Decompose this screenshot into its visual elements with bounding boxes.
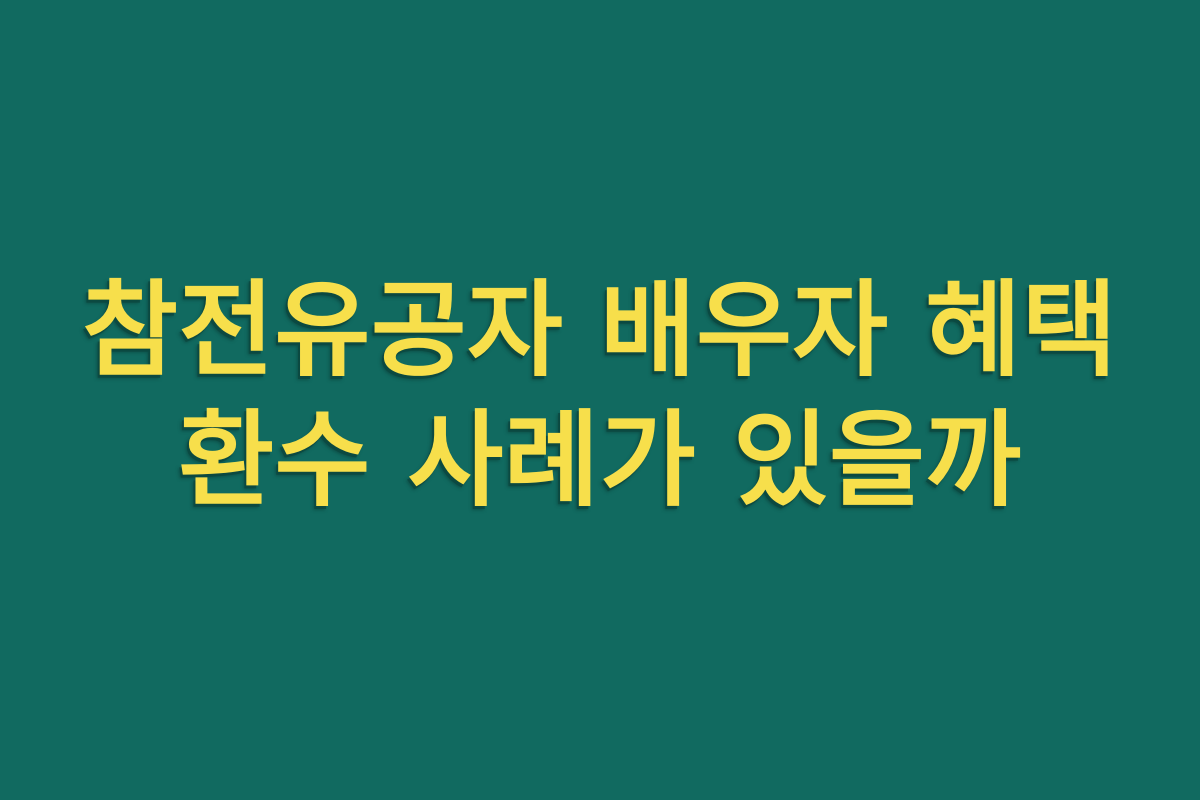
headline-block: 참전유공자 배우자 혜택 환수 사례가 있을까	[0, 278, 1200, 522]
thumbnail-canvas: 참전유공자 배우자 혜택 환수 사례가 있을까	[0, 0, 1200, 800]
headline-line-1: 참전유공자 배우자 혜택	[0, 278, 1200, 382]
headline-line-2: 환수 사례가 있을까	[0, 408, 1200, 512]
